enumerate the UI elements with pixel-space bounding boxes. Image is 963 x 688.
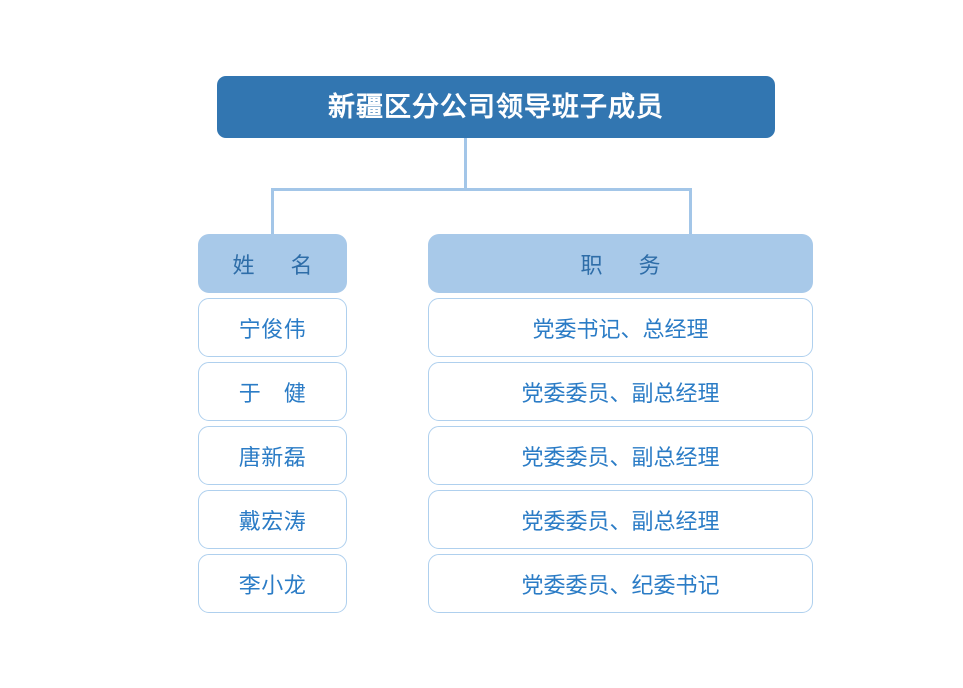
name-cell: 唐新磊 [198, 426, 347, 485]
connector-drop-name-column [271, 188, 274, 236]
role-column: 职 务 党委书记、总经理 党委委员、副总经理 党委委员、副总经理 党委委员、副总… [428, 234, 813, 613]
name-cell: 李小龙 [198, 554, 347, 613]
role-cell: 党委书记、总经理 [428, 298, 813, 357]
name-cell: 于 健 [198, 362, 347, 421]
role-cell: 党委委员、副总经理 [428, 490, 813, 549]
org-chart-title-node: 新疆区分公司领导班子成员 [217, 76, 775, 138]
connector-drop-role-column [689, 188, 692, 236]
org-chart-canvas: 新疆区分公司领导班子成员 姓 名 宁俊伟 于 健 唐新磊 戴宏涛 李小龙 职 务… [0, 0, 963, 688]
connector-root-stem [464, 138, 467, 191]
column-header-role: 职 务 [428, 234, 813, 293]
role-cell: 党委委员、副总经理 [428, 426, 813, 485]
role-cell: 党委委员、纪委书记 [428, 554, 813, 613]
column-header-name: 姓 名 [198, 234, 347, 293]
page-title: 新疆区分公司领导班子成员 [328, 94, 664, 121]
role-cell: 党委委员、副总经理 [428, 362, 813, 421]
name-cell: 宁俊伟 [198, 298, 347, 357]
name-column: 姓 名 宁俊伟 于 健 唐新磊 戴宏涛 李小龙 [198, 234, 347, 613]
name-cell: 戴宏涛 [198, 490, 347, 549]
connector-horizontal-bar [271, 188, 692, 191]
